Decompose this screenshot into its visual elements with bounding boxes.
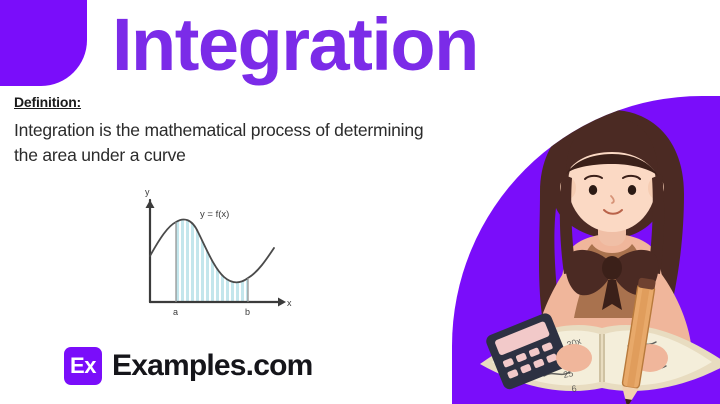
y-axis-label: y [145, 187, 150, 197]
curve-label: y = f(x) [200, 209, 229, 220]
student-illustration: 30x 45 25 6 [452, 96, 720, 404]
page-title: Integration [112, 3, 478, 87]
upper-bound-label: b [245, 307, 250, 317]
x-axis-label: x [287, 298, 292, 308]
examples-logo[interactable]: Ex Examples.com [64, 347, 313, 385]
logo-text: Examples.com [112, 349, 313, 383]
logo-badge: Ex [64, 347, 102, 385]
x-axis-arrowhead [278, 298, 286, 307]
definition-text: Integration is the mathematical process … [14, 118, 434, 168]
definition-label: Definition: [14, 94, 81, 110]
integration-infographic-card: Integration Definition: Integration is t… [0, 0, 720, 404]
top-left-purple-decoration [0, 0, 87, 86]
area-under-curve-diagram: y x y = f(x) a b [136, 184, 296, 336]
y-axis-arrowhead [146, 200, 155, 208]
lower-bound-label: a [173, 307, 178, 317]
illustration-panel: 30x 45 25 6 [452, 96, 720, 404]
